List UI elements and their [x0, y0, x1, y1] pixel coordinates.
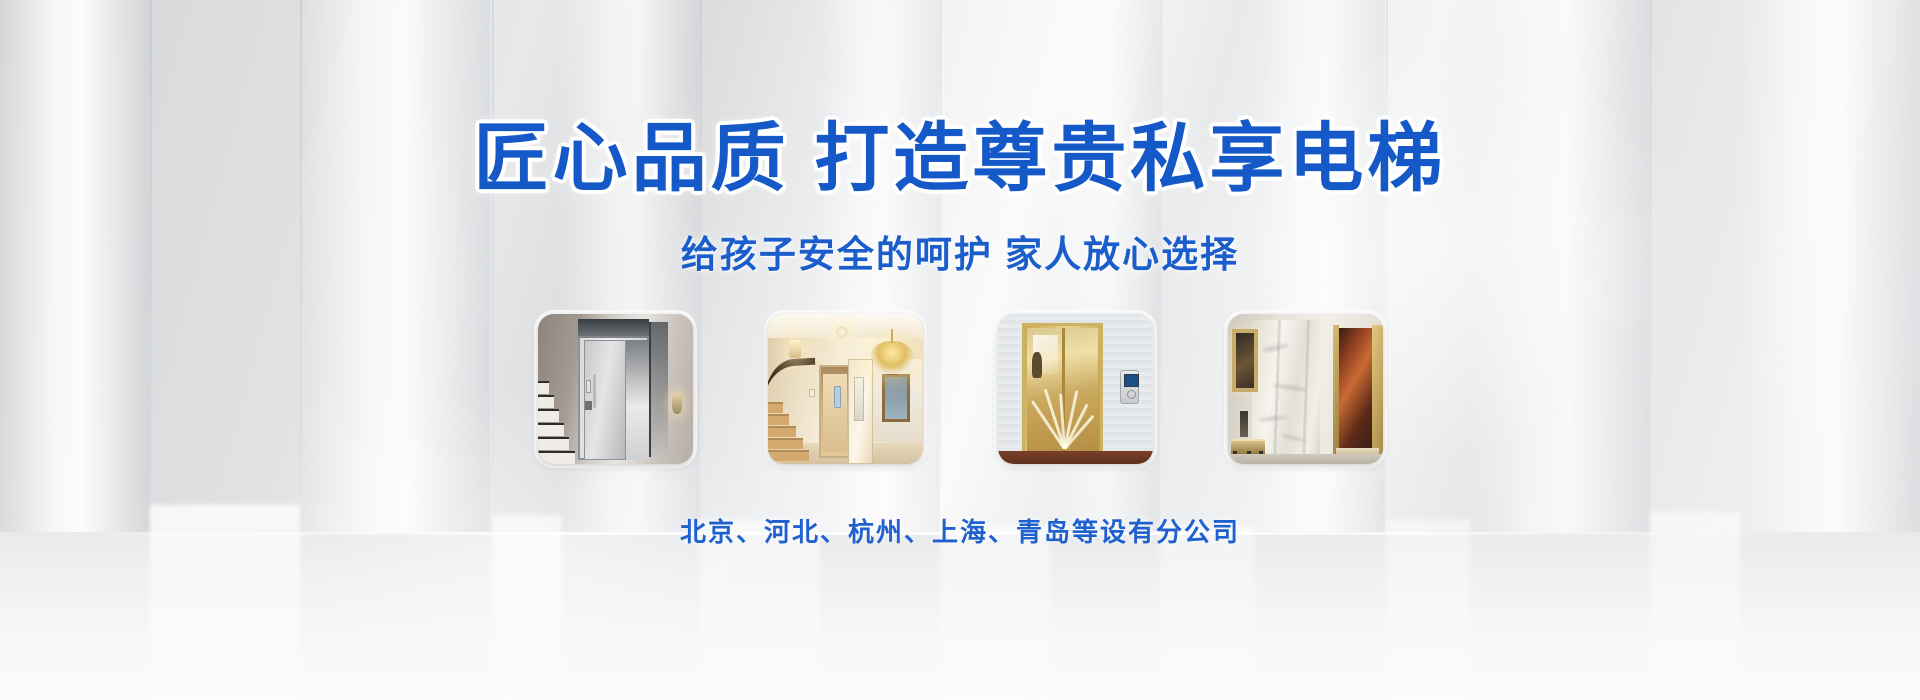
product-gallery [538, 314, 1383, 464]
gallery-item-gold-etched-glass-elevator-doors[interactable] [998, 314, 1153, 464]
downlight-icon [836, 326, 848, 338]
wall-sconce-icon [672, 392, 682, 414]
page-subtitle: 给孩子安全的呵护 家人放心选择 [681, 224, 1239, 278]
hero-banner: 匠心品质 打造尊贵私享电梯 给孩子安全的呵护 家人放心选择 [0, 0, 1920, 700]
gallery-item-beige-villa-elevator-with-chandelier[interactable] [768, 314, 923, 464]
staircase [538, 377, 575, 464]
banner-content: 匠心品质 打造尊贵私享电梯 给孩子安全的呵护 家人放心选择 [0, 0, 1920, 700]
framed-artwork [1232, 329, 1258, 392]
etched-floral-pattern [1041, 386, 1084, 449]
chandelier-icon [869, 341, 915, 375]
wall-sconce-icon [789, 340, 801, 358]
elevator-call-panel-icon [1120, 370, 1139, 404]
gallery-item-marble-lobby-elevator[interactable] [1228, 314, 1383, 464]
thumbnail-image [768, 314, 923, 464]
page-title: 匠心品质 打造尊贵私享电梯 [474, 97, 1447, 206]
handrail [768, 358, 819, 433]
gallery-item-silver-home-elevator-with-staircase[interactable] [538, 314, 693, 464]
table-lamp-icon [1240, 411, 1248, 437]
branch-offices-note: 北京、河北、杭州、上海、青岛等设有分公司 [680, 512, 1240, 549]
thumbnail-image [998, 314, 1153, 464]
thumbnail-image [538, 314, 693, 464]
thumbnail-image [1228, 314, 1383, 464]
